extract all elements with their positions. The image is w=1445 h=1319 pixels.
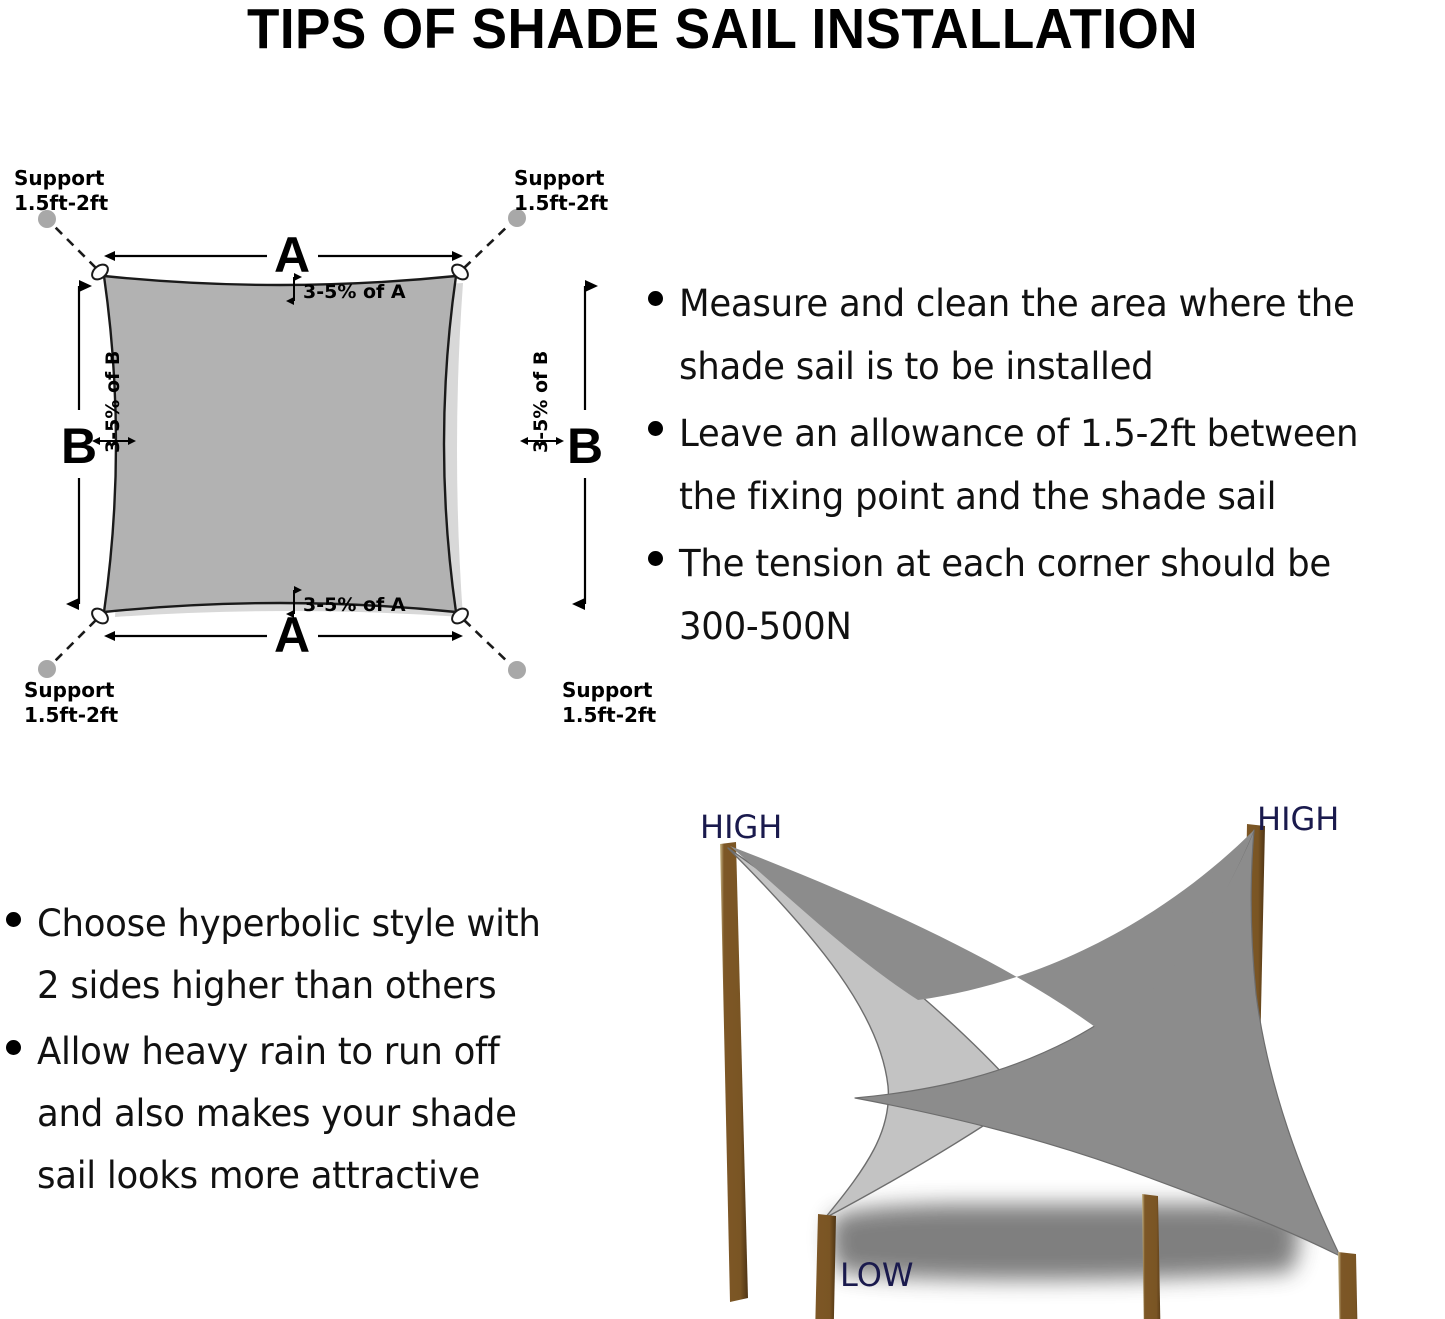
support-label-top-left-line1: Support [14,166,105,190]
curve-callout-a-top-label: 3-5% of A [303,281,406,303]
support-label-bottom-left-line1: Support [24,678,115,702]
tether-bottom-left [51,620,96,665]
support-label-top-right-line2: 1.5ft-2ft [514,191,609,215]
post-low-left [813,1214,836,1319]
post-high-left [720,842,748,1302]
dimension-a-top: A [115,227,452,283]
rectangular-shade-sail-dimension-diagram: Support 1.5ft-2ft Support 1.5ft-2ft Supp… [0,160,660,730]
list-item-line: sail looks more attractive [37,1145,517,1207]
list-item-text: Measure and clean the area where the sha… [679,272,1355,398]
list-item-line: Measure and clean the area where the [679,272,1355,335]
list-item-line: the fixing point and the shade sail [679,465,1358,528]
support-label-top-right: Support 1.5ft-2ft [514,166,609,215]
support-label-top-right-line1: Support [514,166,605,190]
list-item: Choose hyperbolic style with 2 sides hig… [6,893,626,1017]
list-item: The tension at each corner should be 300… [648,532,1445,658]
list-item-line: Allow heavy rain to run off [37,1021,517,1083]
curve-callout-a-top: 3-5% of A [294,277,406,303]
list-item-line: Choose hyperbolic style with [37,893,541,955]
list-item-text: Leave an allowance of 1.5-2ft between th… [679,402,1358,528]
tether-top-left [51,223,96,268]
bullet-dot-icon [6,1040,21,1055]
list-item: Leave an allowance of 1.5-2ft between th… [648,402,1445,528]
support-label-top-left: Support 1.5ft-2ft [14,166,109,215]
list-item: Measure and clean the area where the sha… [648,272,1445,398]
list-item-line: 300-500N [679,595,1331,658]
dimension-b-left-label: B [61,418,97,474]
list-item-line: The tension at each corner should be [679,532,1331,595]
support-label-bottom-right: Support 1.5ft-2ft [562,678,657,727]
curve-callout-b-right: 3-5% of B [528,351,556,453]
bullet-dot-icon [648,291,663,306]
support-dot-bottom-left [38,660,56,678]
dimension-b-right: B [567,286,603,604]
support-label-bottom-right-line2: 1.5ft-2ft [562,703,657,727]
list-item-line: and also makes your shade [37,1083,517,1145]
support-label-bottom-left-line2: 1.5ft-2ft [24,703,119,727]
list-item-line: 2 sides higher than others [37,955,541,1017]
label-low-left: LOW [840,1256,914,1294]
list-item-line: Leave an allowance of 1.5-2ft between [679,402,1358,465]
bullet-dot-icon [648,551,663,566]
support-label-bottom-left: Support 1.5ft-2ft [24,678,119,727]
list-item: Allow heavy rain to run off and also mak… [6,1021,626,1207]
dimension-b-right-label: B [567,418,603,474]
bullet-dot-icon [6,912,21,927]
bullet-dot-icon [648,421,663,436]
post-low-right [1338,1252,1362,1319]
support-label-top-left-line2: 1.5ft-2ft [14,191,109,215]
tether-top-right [464,222,512,268]
installation-tips-right-list: Measure and clean the area where the sha… [648,272,1445,662]
dimension-a-top-label: A [274,227,310,283]
list-item-text: The tension at each corner should be 300… [679,532,1331,658]
curve-callout-b-left-label: 3-5% of B [102,351,124,453]
list-item-text: Allow heavy rain to run off and also mak… [37,1021,517,1207]
label-high-right: HIGH [1257,800,1339,838]
dimension-b-left: B [61,286,97,604]
curve-callout-a-bottom: 3-5% of A [294,590,406,616]
page-title: TIPS OF SHADE SAIL INSTALLATION [51,0,1395,62]
shade-sail-shape [104,276,456,612]
sail-panel-light [728,848,1025,1218]
label-high-left: HIGH [700,808,782,846]
tether-bottom-right [464,620,512,666]
support-label-bottom-right-line1: Support [562,678,653,702]
list-item-text: Choose hyperbolic style with 2 sides hig… [37,893,541,1017]
hyperbolic-shade-sail-illustration: HIGH HIGH LOW LOW [650,786,1445,1319]
curve-callout-b-right-label: 3-5% of B [530,351,552,453]
curve-callout-b-left: 3-5% of B [100,351,128,453]
list-item-line: shade sail is to be installed [679,335,1355,398]
curve-callout-a-bottom-label: 3-5% of A [303,594,406,616]
support-dot-bottom-right [508,661,526,679]
installation-tips-left-list: Choose hyperbolic style with 2 sides hig… [6,893,626,1211]
